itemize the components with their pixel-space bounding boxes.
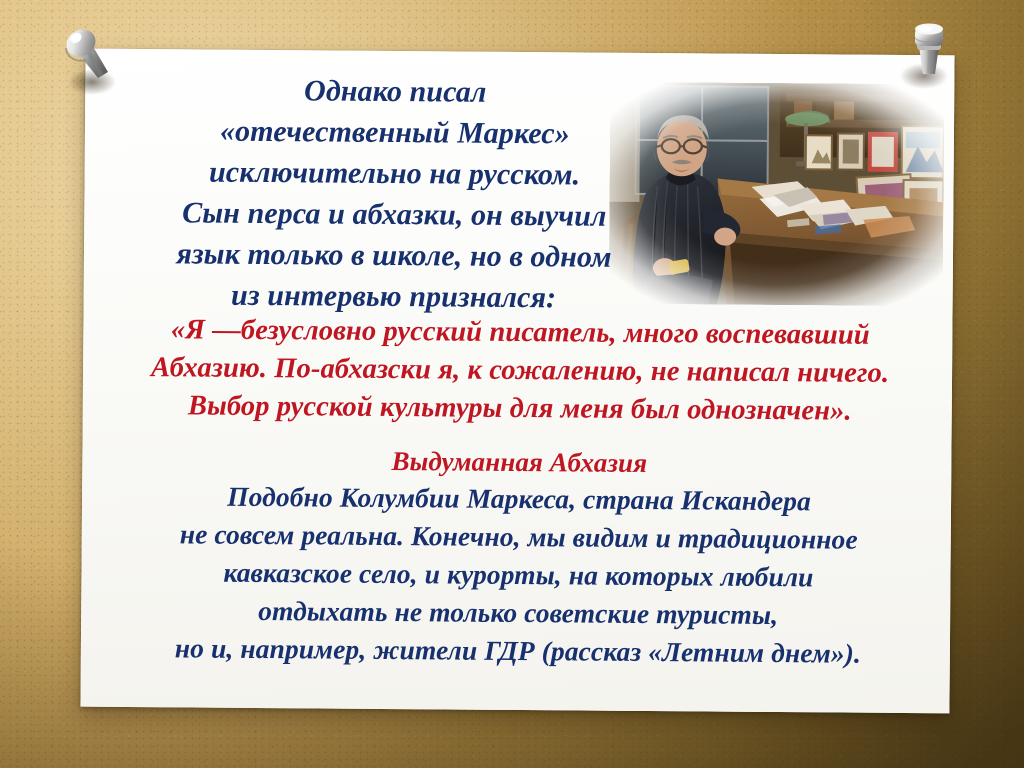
intro-line-1: Однако писал	[95, 69, 695, 115]
quote-line-3: Выбор русской культуры для меня был одно…	[89, 387, 951, 432]
intro-line-2: «отечественный Маркес»	[95, 110, 695, 156]
intro-line-4: Сын перса и абхазки, он выучил	[94, 192, 694, 238]
paper-content-area: Однако писал «отечественный Маркес» искл…	[80, 49, 954, 714]
intro-paragraph: Однако писал «отечественный Маркес» искл…	[94, 69, 696, 320]
pushpin-icon	[898, 20, 968, 100]
outro-line-2: не совсем реальна. Конечно, мы видим и т…	[88, 515, 950, 560]
intro-line-5: язык только в школе, но в одном	[94, 233, 694, 279]
pushpin-icon	[58, 28, 128, 108]
closing-paragraph: Подобно Колумбии Маркеса, страна Исканде…	[87, 477, 950, 674]
quotation-paragraph: «Я —безусловно русский писатель, много в…	[89, 311, 952, 432]
top-left-pushpin[interactable]	[58, 28, 128, 108]
pinned-paper-sheet: Однако писал «отечественный Маркес» искл…	[80, 49, 954, 714]
outro-line-5: но и, например, жители ГДР (рассказ «Лет…	[87, 629, 949, 674]
intro-line-3: исключительно на русском.	[94, 151, 694, 197]
slide-canvas: Однако писал «отечественный Маркес» искл…	[0, 0, 1024, 768]
top-right-pushpin[interactable]	[898, 20, 968, 100]
